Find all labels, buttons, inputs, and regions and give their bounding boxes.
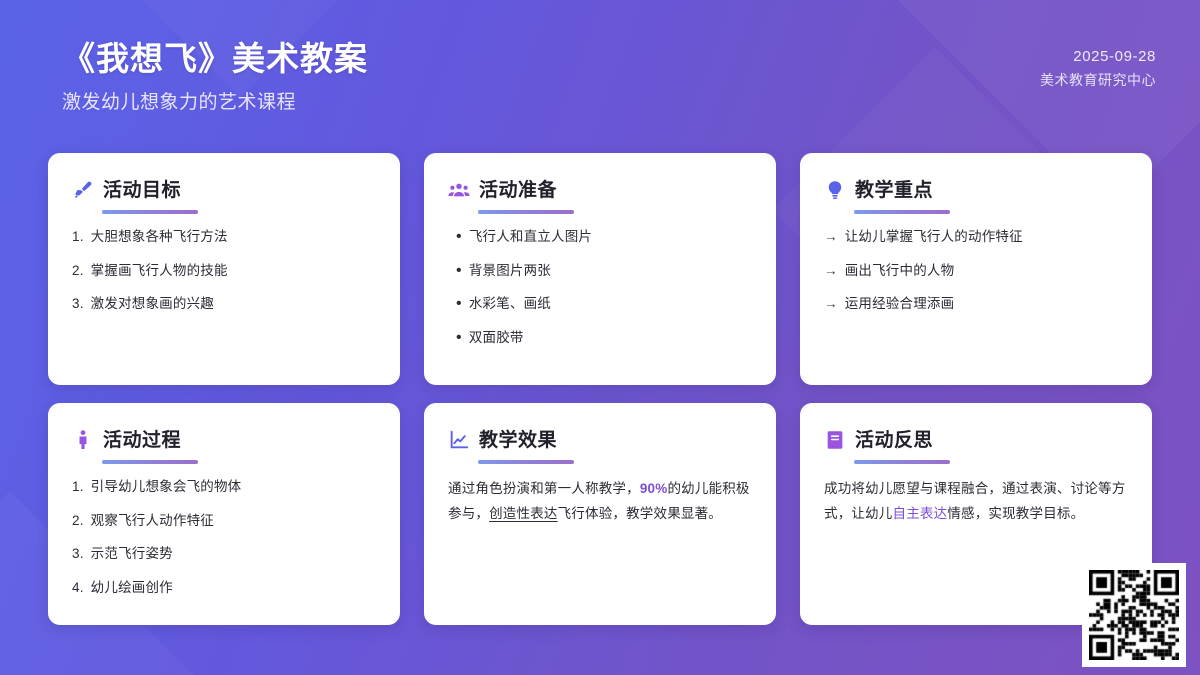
card-body: 1.引导幼儿想象会飞的物体 2.观察飞行人动作特征 3.示范飞行姿势 4.幼儿绘… (72, 477, 376, 597)
paragraph-part: 情感，实现教学目标。 (947, 506, 1084, 521)
list-marker: → (824, 227, 838, 247)
highlight-phrase: 自主表达 (893, 506, 948, 521)
numbered-list: 1.大胆想象各种飞行方法 2.掌握画飞行人物的技能 3.激发对想象画的兴趣 (72, 227, 376, 314)
list-item: •飞行人和直立人图片 (448, 227, 752, 247)
list-marker: 1. (72, 477, 84, 497)
card-teaching-effect: 教学效果 通过角色扮演和第一人称教学，90%的幼儿能积极参与，创造性表达飞行体验… (424, 403, 776, 625)
card-grid: 活动目标 1.大胆想象各种飞行方法 2.掌握画飞行人物的技能 3.激发对想象画的… (48, 153, 1152, 625)
card-title: 活动过程 (103, 431, 181, 450)
card-title: 活动反思 (855, 431, 933, 450)
card-header: 教学重点 (824, 179, 1128, 201)
page-title: 《我想飞》美术教案 (62, 38, 368, 79)
list-item-text: 幼儿绘画创作 (91, 578, 173, 598)
effect-paragraph: 通过角色扮演和第一人称教学，90%的幼儿能积极参与，创造性表达飞行体验，教学效果… (448, 477, 752, 527)
page-header: 《我想飞》美术教案 激发幼儿想象力的艺术课程 2025-09-28 美术教育研究… (0, 0, 1200, 148)
card-teaching-focus: 教学重点 →让幼儿掌握飞行人的动作特征 →画出飞行中的人物 →运用经验合理添画 (800, 153, 1152, 385)
list-marker: → (824, 294, 838, 314)
list-marker: • (448, 328, 462, 348)
qr-code[interactable] (1082, 563, 1186, 667)
card-body: •飞行人和直立人图片 •背景图片两张 •水彩笔、画纸 •双面胶带 (448, 227, 752, 347)
child-figure-icon (72, 429, 94, 451)
title-underline (854, 210, 950, 214)
card-title: 教学效果 (479, 431, 557, 450)
list-item-text: 飞行人和直立人图片 (469, 227, 592, 247)
underlined-phrase: 创造性表达 (489, 506, 558, 521)
list-marker: 3. (72, 294, 84, 314)
list-item-text: 大胆想象各种飞行方法 (91, 227, 228, 247)
list-marker: 2. (72, 511, 84, 531)
list-item-text: 运用经验合理添画 (845, 294, 955, 314)
list-item: •水彩笔、画纸 (448, 294, 752, 314)
list-item-text: 示范飞行姿势 (91, 544, 173, 564)
list-item: 4.幼儿绘画创作 (72, 578, 376, 598)
list-item: 3.激发对想象画的兴趣 (72, 294, 376, 314)
card-header: 活动反思 (824, 429, 1128, 451)
book-icon (824, 429, 846, 451)
card-title: 活动准备 (479, 181, 557, 200)
lightbulb-icon (824, 179, 846, 201)
list-item: →让幼儿掌握飞行人的动作特征 (824, 227, 1128, 247)
list-item-text: 水彩笔、画纸 (469, 294, 551, 314)
list-item: 1.引导幼儿想象会飞的物体 (72, 477, 376, 497)
title-underline (102, 460, 198, 464)
list-marker: 1. (72, 227, 84, 247)
list-item-text: 画出飞行中的人物 (845, 261, 955, 281)
paragraph-part: 通过角色扮演和第一人称教学， (448, 481, 640, 496)
list-item: →运用经验合理添画 (824, 294, 1128, 314)
numbered-list: 1.引导幼儿想象会飞的物体 2.观察飞行人动作特征 3.示范飞行姿势 4.幼儿绘… (72, 477, 376, 597)
title-underline (478, 210, 574, 214)
list-item-text: 激发对想象画的兴趣 (91, 294, 214, 314)
bullet-list: •飞行人和直立人图片 •背景图片两张 •水彩笔、画纸 •双面胶带 (448, 227, 752, 347)
card-activity-process: 活动过程 1.引导幼儿想象会飞的物体 2.观察飞行人动作特征 3.示范飞行姿势 … (48, 403, 400, 625)
list-marker: 4. (72, 578, 84, 598)
list-marker: • (448, 261, 462, 281)
list-item-text: 观察飞行人动作特征 (91, 511, 214, 531)
organization-name: 美术教育研究中心 (1040, 70, 1156, 90)
card-title: 活动目标 (103, 181, 181, 200)
reflection-paragraph: 成功将幼儿愿望与课程融合，通过表演、讨论等方式，让幼儿自主表达情感，实现教学目标… (824, 477, 1128, 527)
card-header: 活动目标 (72, 179, 376, 201)
list-item-text: 掌握画飞行人物的技能 (91, 261, 228, 281)
list-item: •背景图片两张 (448, 261, 752, 281)
list-item: 2.掌握画飞行人物的技能 (72, 261, 376, 281)
paintbrush-icon (72, 179, 94, 201)
list-marker: 2. (72, 261, 84, 281)
card-activity-preparation: 活动准备 •飞行人和直立人图片 •背景图片两张 •水彩笔、画纸 •双面胶带 (424, 153, 776, 385)
list-marker: 3. (72, 544, 84, 564)
card-activity-goals: 活动目标 1.大胆想象各种飞行方法 2.掌握画飞行人物的技能 3.激发对想象画的… (48, 153, 400, 385)
list-item-text: 双面胶带 (469, 328, 524, 348)
list-marker: • (448, 294, 462, 314)
title-block: 《我想飞》美术教案 激发幼儿想象力的艺术课程 (62, 38, 368, 114)
list-item: •双面胶带 (448, 328, 752, 348)
list-item: 1.大胆想象各种飞行方法 (72, 227, 376, 247)
page-subtitle: 激发幼儿想象力的艺术课程 (62, 87, 368, 114)
list-item: →画出飞行中的人物 (824, 261, 1128, 281)
card-header: 教学效果 (448, 429, 752, 451)
line-chart-icon (448, 429, 470, 451)
card-header: 活动准备 (448, 179, 752, 201)
card-body: 成功将幼儿愿望与课程融合，通过表演、讨论等方式，让幼儿自主表达情感，实现教学目标… (824, 477, 1128, 527)
card-body: 通过角色扮演和第一人称教学，90%的幼儿能积极参与，创造性表达飞行体验，教学效果… (448, 477, 752, 527)
title-underline (102, 210, 198, 214)
list-item-text: 背景图片两张 (469, 261, 551, 281)
list-marker: • (448, 227, 462, 247)
list-item-text: 让幼儿掌握飞行人的动作特征 (845, 227, 1023, 247)
list-marker: → (824, 261, 838, 281)
title-underline (478, 460, 574, 464)
highlight-percentage: 90% (640, 481, 668, 496)
card-body: 1.大胆想象各种飞行方法 2.掌握画飞行人物的技能 3.激发对想象画的兴趣 (72, 227, 376, 314)
list-item: 3.示范飞行姿势 (72, 544, 376, 564)
card-header: 活动过程 (72, 429, 376, 451)
arrow-list: →让幼儿掌握飞行人的动作特征 →画出飞行中的人物 →运用经验合理添画 (824, 227, 1128, 314)
list-item: 2.观察飞行人动作特征 (72, 511, 376, 531)
title-underline (854, 460, 950, 464)
document-date: 2025-09-28 (1040, 48, 1156, 65)
qr-code-image (1089, 570, 1179, 660)
users-group-icon (448, 179, 470, 201)
header-meta: 2025-09-28 美术教育研究中心 (1040, 38, 1156, 90)
card-body: →让幼儿掌握飞行人的动作特征 →画出飞行中的人物 →运用经验合理添画 (824, 227, 1128, 314)
list-item-text: 引导幼儿想象会飞的物体 (91, 477, 242, 497)
paragraph-part: 飞行体验，教学效果显著。 (558, 506, 722, 521)
card-title: 教学重点 (855, 181, 933, 200)
